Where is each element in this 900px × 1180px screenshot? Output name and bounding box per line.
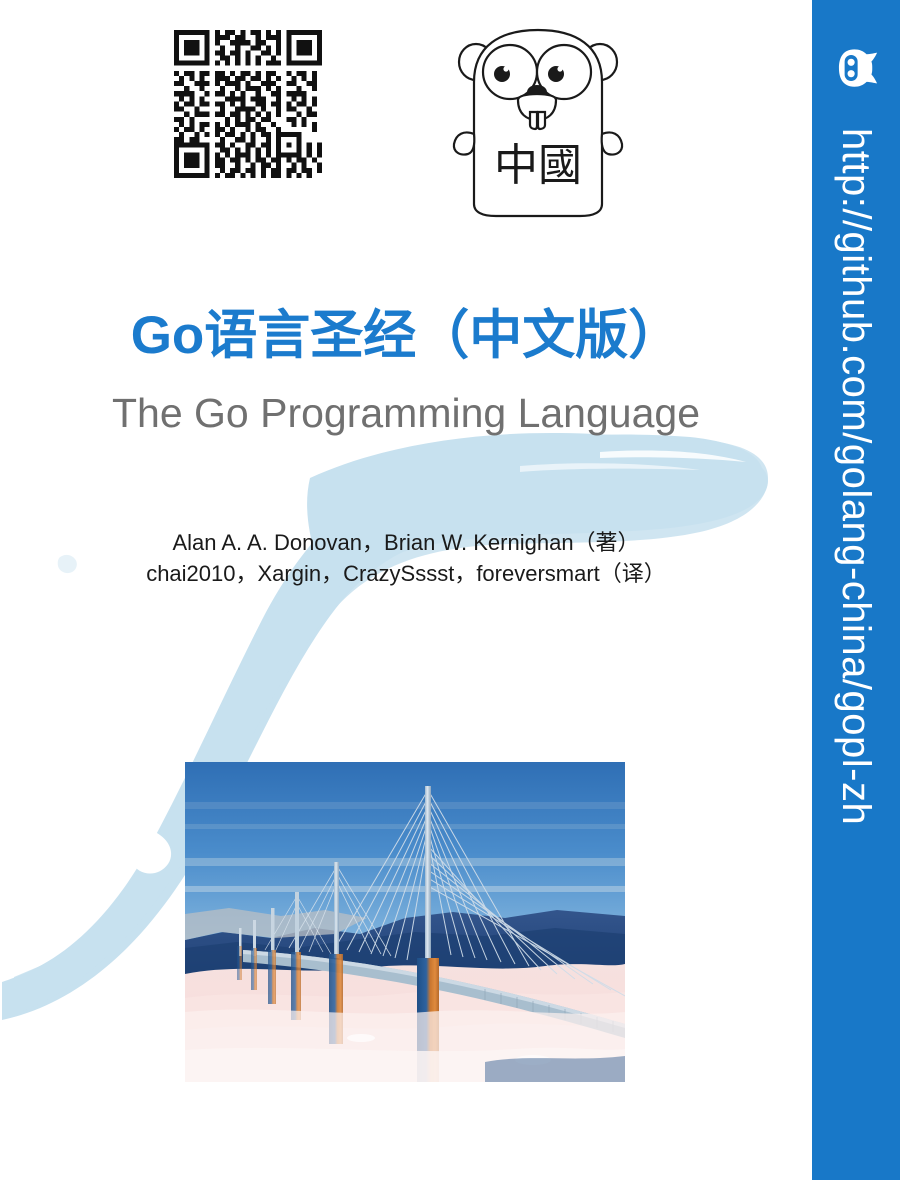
go-gopher-mascot-icon: 中國 xyxy=(452,22,624,218)
authors-line: Alan A. A. Donovan，Brian W. Kernighan（著） xyxy=(0,527,812,558)
page-subtitle: The Go Programming Language xyxy=(0,388,812,438)
github-url-text[interactable]: http://github.com/golang-china/gopl-zh xyxy=(812,0,900,1180)
author-credits: Alan A. A. Donovan，Brian W. Kernighan（著）… xyxy=(0,527,812,589)
gopher-belly-text: 中國 xyxy=(494,140,582,191)
translators-line: chai2010，Xargin，CrazySssst，foreversmart（… xyxy=(0,558,812,589)
page-title: Go语言圣经（中文版） xyxy=(0,306,812,366)
qr-code-matrix xyxy=(174,30,322,178)
github-url-band[interactable]: http://github.com/golang-china/gopl-zh xyxy=(812,0,900,1180)
book-cover: 中國 Go语言圣经（中文版） The Go Programming Langua… xyxy=(0,0,900,1180)
millau-viaduct-photo xyxy=(185,762,625,1082)
qr-code[interactable] xyxy=(174,30,322,178)
